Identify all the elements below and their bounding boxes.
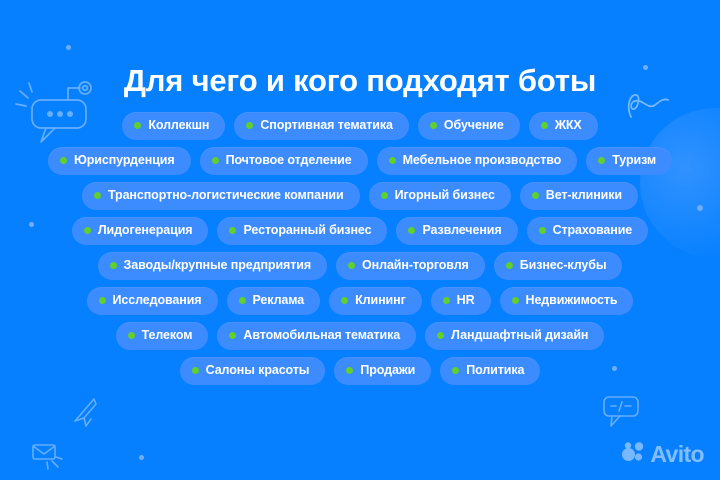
decor-dot xyxy=(66,45,71,50)
bullet-dot-icon xyxy=(110,262,117,269)
bullet-dot-icon xyxy=(539,227,546,234)
tag-pill[interactable]: Туризм xyxy=(586,147,672,175)
tag-pill-label: Юриспурденция xyxy=(74,153,175,168)
tag-pill-label: Обучение xyxy=(444,118,504,133)
tag-pill[interactable]: Развлечения xyxy=(396,217,517,245)
tag-pill-label: Салоны красоты xyxy=(206,363,310,378)
tag-pill-label: Лидогенерация xyxy=(98,223,193,238)
avito-logo-icon xyxy=(621,441,645,468)
tag-pill[interactable]: Исследования xyxy=(87,287,218,315)
bullet-dot-icon xyxy=(598,157,605,164)
tag-row: Салоны красотыПродажиПолитика xyxy=(18,357,702,385)
tag-pill-label: Вет-клиники xyxy=(546,188,622,203)
tag-pill[interactable]: Юриспурденция xyxy=(48,147,191,175)
tag-pill-label: Страхование xyxy=(553,223,633,238)
bullet-dot-icon xyxy=(541,122,548,129)
bullet-dot-icon xyxy=(512,297,519,304)
tag-pill[interactable]: Заводы/крупные предприятия xyxy=(98,252,327,280)
tag-row: Заводы/крупные предприятияОнлайн-торговл… xyxy=(18,252,702,280)
tag-pill[interactable]: Вет-клиники xyxy=(520,182,638,210)
tag-pill[interactable]: Обучение xyxy=(418,112,520,140)
tag-pill[interactable]: Спортивная тематика xyxy=(234,112,409,140)
poster-canvas: Для чего и кого подходят боты КоллекшнСп… xyxy=(0,0,720,480)
tag-pill-label: Политика xyxy=(466,363,524,378)
avito-watermark: Avito xyxy=(621,441,704,468)
bullet-dot-icon xyxy=(246,122,253,129)
tag-pill-label: Туризм xyxy=(612,153,656,168)
tag-pill[interactable]: Транспортно-логистические компании xyxy=(82,182,360,210)
tag-pill[interactable]: Игорный бизнес xyxy=(369,182,511,210)
tag-pill[interactable]: Клининг xyxy=(329,287,422,315)
tag-pill[interactable]: Почтовое отделение xyxy=(200,147,368,175)
tag-pill-label: Заводы/крупные предприятия xyxy=(124,258,311,273)
bullet-dot-icon xyxy=(94,192,101,199)
tag-pill-label: Телеком xyxy=(142,328,193,343)
tag-row: Транспортно-логистические компанииИгорны… xyxy=(18,182,702,210)
bullet-dot-icon xyxy=(408,227,415,234)
tag-pill-label: Игорный бизнес xyxy=(395,188,495,203)
envelope-icon xyxy=(30,440,64,470)
bullet-dot-icon xyxy=(437,332,444,339)
tag-pill[interactable]: Онлайн-торговля xyxy=(336,252,485,280)
bullet-dot-icon xyxy=(348,262,355,269)
tag-pill-label: Ландшафтный дизайн xyxy=(451,328,588,343)
avito-logo-text: Avito xyxy=(650,443,704,466)
bullet-dot-icon xyxy=(506,262,513,269)
tag-pill-label: Клининг xyxy=(355,293,406,308)
bullet-dot-icon xyxy=(443,297,450,304)
tag-pill-label: Онлайн-торговля xyxy=(362,258,469,273)
tag-pill-label: Мебельное производство xyxy=(403,153,562,168)
tag-row: ЮриспурденцияПочтовое отделениеМебельное… xyxy=(18,147,702,175)
bullet-dot-icon xyxy=(84,227,91,234)
bullet-dot-icon xyxy=(99,297,106,304)
tag-pill[interactable]: Недвижимость xyxy=(500,287,634,315)
bullet-dot-icon xyxy=(239,297,246,304)
bullet-dot-icon xyxy=(192,367,199,374)
tag-pill[interactable]: ЖКХ xyxy=(529,112,598,140)
bullet-dot-icon xyxy=(430,122,437,129)
bullet-dot-icon xyxy=(128,332,135,339)
bullet-dot-icon xyxy=(60,157,67,164)
tag-pill[interactable]: Салоны красоты xyxy=(180,357,326,385)
tag-pill-label: ЖКХ xyxy=(555,118,582,133)
tag-row: ИсследованияРекламаКлинингHRНедвижимость xyxy=(18,287,702,315)
tag-pill-label: Транспортно-логистические компании xyxy=(108,188,344,203)
tag-pill-label: Недвижимость xyxy=(526,293,618,308)
tag-pill[interactable]: Страхование xyxy=(527,217,649,245)
tag-pill-label: Ресторанный бизнес xyxy=(243,223,371,238)
tag-row: ТелекомАвтомобильная тематикаЛандшафтный… xyxy=(18,322,702,350)
bullet-dot-icon xyxy=(212,157,219,164)
tag-pill[interactable]: Коллекшн xyxy=(122,112,225,140)
bullet-dot-icon xyxy=(229,332,236,339)
tag-pill-label: Бизнес-клубы xyxy=(520,258,607,273)
tag-pill[interactable]: Продажи xyxy=(334,357,431,385)
tag-pill[interactable]: Телеком xyxy=(116,322,209,350)
tag-pill-label: Автомобильная тематика xyxy=(243,328,400,343)
bullet-dot-icon xyxy=(381,192,388,199)
bullet-dot-icon xyxy=(341,297,348,304)
tag-row: КоллекшнСпортивная тематикаОбучениеЖКХ xyxy=(18,112,702,140)
bullet-dot-icon xyxy=(229,227,236,234)
bullet-dot-icon xyxy=(532,192,539,199)
tag-pill-label: HR xyxy=(457,293,475,308)
tag-pill-label: Развлечения xyxy=(422,223,501,238)
bullet-dot-icon xyxy=(389,157,396,164)
bullet-dot-icon xyxy=(452,367,459,374)
bullet-dot-icon xyxy=(134,122,141,129)
bullet-dot-icon xyxy=(346,367,353,374)
paper-plane-icon xyxy=(72,396,100,428)
tag-pill[interactable]: Реклама xyxy=(227,287,321,315)
tag-row: ЛидогенерацияРесторанный бизнесРазвлечен… xyxy=(18,217,702,245)
tag-pill-label: Спортивная тематика xyxy=(260,118,393,133)
tag-pill[interactable]: Политика xyxy=(440,357,540,385)
tag-pill[interactable]: Лидогенерация xyxy=(72,217,209,245)
tag-pill-label: Исследования xyxy=(113,293,202,308)
decor-dot xyxy=(139,455,144,460)
speech-bubble-icon xyxy=(600,394,644,430)
tag-pill-label: Продажи xyxy=(360,363,415,378)
tag-pill[interactable]: HR xyxy=(431,287,491,315)
tag-rows: КоллекшнСпортивная тематикаОбучениеЖКХЮр… xyxy=(18,112,702,385)
tag-pill[interactable]: Ресторанный бизнес xyxy=(217,217,387,245)
tag-pill-label: Коллекшн xyxy=(148,118,209,133)
tag-pill-label: Реклама xyxy=(253,293,305,308)
tag-pill[interactable]: Ландшафтный дизайн xyxy=(425,322,604,350)
tag-pill[interactable]: Мебельное производство xyxy=(377,147,578,175)
tag-pill-label: Почтовое отделение xyxy=(226,153,352,168)
page-title: Для чего и кого подходят боты xyxy=(0,63,720,99)
tag-pill[interactable]: Бизнес-клубы xyxy=(494,252,623,280)
tag-pill[interactable]: Автомобильная тематика xyxy=(217,322,416,350)
